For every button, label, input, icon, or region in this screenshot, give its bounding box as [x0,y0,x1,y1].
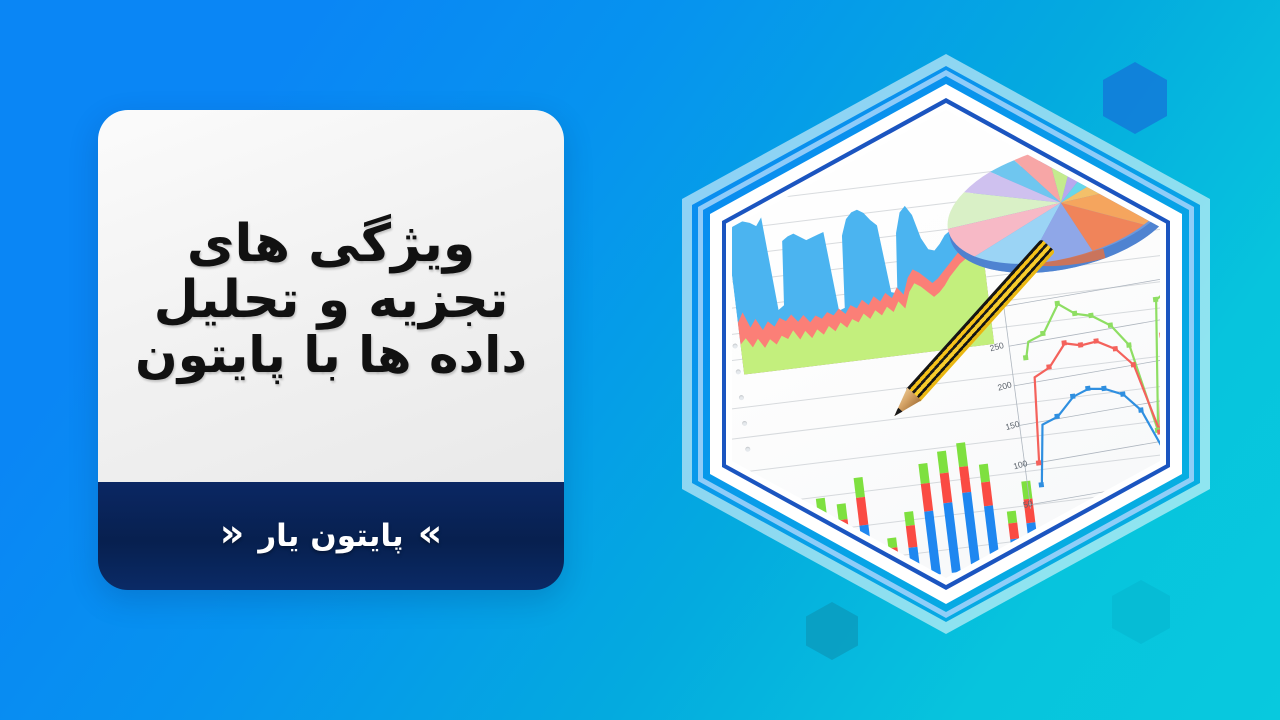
bar [918,463,941,575]
bar [956,442,981,570]
title-card-body: ویژگی های تجزیه و تحلیل داده ها با پایتو… [98,110,564,482]
brand-banner: » پایتون یار « [98,482,564,590]
hexagon-photo-frame: 300 250 200 150 100 50 0 [676,44,1216,640]
title-card: ویژگی های تجزیه و تحلیل داده ها با پایتو… [98,110,564,590]
brand-name: پایتون یار [258,518,403,554]
chevron-right-icon: » [418,514,443,552]
chevron-left-icon: « [220,514,245,552]
page-title-line-3: داده ها با پایتون [135,330,527,380]
poster-canvas: ویژگی های تجزیه و تحلیل داده ها با پایتو… [0,0,1280,720]
bar [937,451,961,573]
page-title-line-1: ویژگی های [187,218,475,270]
page-title-line-2: تجزیه و تحلیل [154,274,509,326]
